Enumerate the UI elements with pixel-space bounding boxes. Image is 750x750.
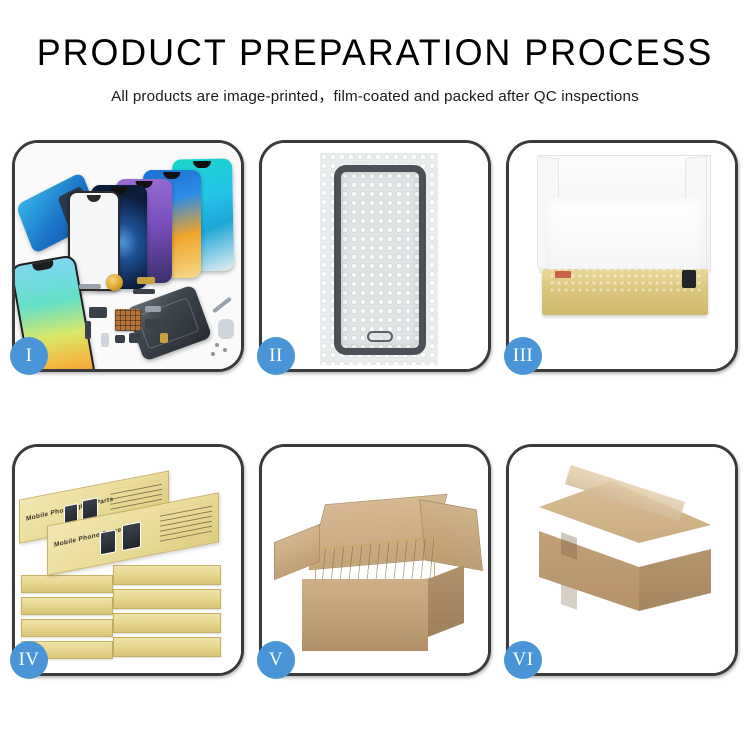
box-spec-lines bbox=[160, 502, 212, 542]
process-steps-grid: I II III bbox=[12, 140, 738, 676]
step-image-v bbox=[262, 447, 488, 673]
retail-box bbox=[113, 589, 221, 609]
retail-box bbox=[113, 565, 221, 585]
step-image-iv: Mobile Phone Spare Parts Mobile Phone Sp… bbox=[15, 447, 241, 673]
step-badge-ii: II bbox=[257, 337, 295, 375]
step-panel-iii: III bbox=[506, 140, 738, 372]
step-panel-v: V bbox=[259, 444, 491, 676]
retail-box bbox=[113, 613, 221, 633]
spare-part bbox=[145, 319, 159, 328]
retail-box bbox=[21, 597, 113, 615]
page-title: PRODUCT PREPARATION PROCESS bbox=[11, 34, 739, 73]
screw-part bbox=[223, 348, 227, 352]
spare-part bbox=[101, 333, 109, 347]
wrapped-phone-screen bbox=[334, 165, 426, 355]
spare-part bbox=[79, 284, 101, 289]
step-badge-iii: III bbox=[504, 337, 542, 375]
spare-part bbox=[89, 307, 107, 318]
copper-coil-part bbox=[106, 274, 123, 291]
spare-part bbox=[160, 333, 168, 343]
screw-part bbox=[215, 343, 219, 347]
step-panel-vi: VI bbox=[506, 444, 738, 676]
step-panel-iv: Mobile Phone Spare Parts Mobile Phone Sp… bbox=[12, 444, 244, 676]
spare-part bbox=[85, 321, 91, 339]
spare-part bbox=[115, 335, 125, 343]
home-button-outline bbox=[367, 331, 393, 342]
spare-part bbox=[218, 319, 234, 339]
spare-part bbox=[129, 333, 141, 343]
step-badge-vi: VI bbox=[504, 641, 542, 679]
step-panel-i: I bbox=[12, 140, 244, 372]
step-image-vi bbox=[509, 447, 735, 673]
header: PRODUCT PREPARATION PROCESS All products… bbox=[0, 0, 750, 106]
spare-part bbox=[137, 277, 155, 284]
retail-box bbox=[113, 637, 221, 657]
step-badge-iv: IV bbox=[10, 641, 48, 679]
retail-box bbox=[21, 575, 113, 593]
box-screen-graphic bbox=[122, 521, 141, 551]
step-badge-i: I bbox=[10, 337, 48, 375]
page-subtitle: All products are image-printed，film-coat… bbox=[0, 84, 750, 106]
wrapped-screen-in-box bbox=[549, 266, 701, 294]
screw-part bbox=[211, 352, 215, 356]
step-badge-v: V bbox=[257, 641, 295, 679]
step-image-iii bbox=[509, 143, 735, 369]
spare-part bbox=[145, 306, 161, 312]
foam-padding bbox=[545, 198, 705, 276]
retail-box bbox=[21, 619, 113, 637]
step-panel-ii: II bbox=[259, 140, 491, 372]
carton-front-panel bbox=[302, 579, 428, 651]
spare-part bbox=[133, 289, 155, 294]
step-image-ii bbox=[262, 143, 488, 369]
box-screen-graphic bbox=[100, 529, 116, 555]
product-preparation-infographic: PRODUCT PREPARATION PROCESS All products… bbox=[0, 0, 750, 750]
chip-array-part bbox=[115, 309, 141, 331]
step-image-i bbox=[15, 143, 241, 369]
